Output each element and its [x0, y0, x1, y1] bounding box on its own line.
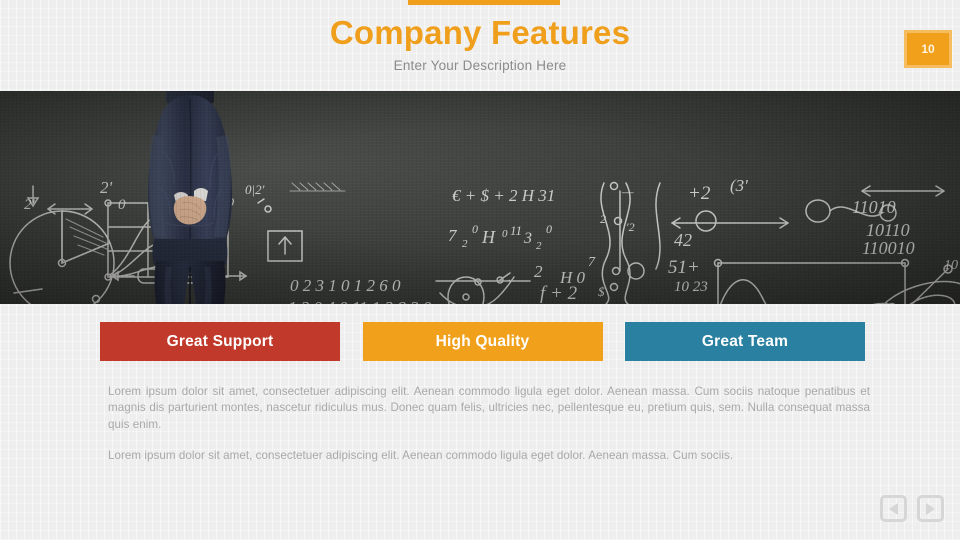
svg-text:0: 0: [502, 228, 508, 240]
feature-button-label: Great Team: [702, 333, 788, 351]
feature-buttons-row: Great Support High Quality Great Team: [100, 322, 865, 361]
chevron-right-icon: [926, 503, 935, 515]
svg-text:+2: +2: [688, 183, 711, 204]
slide-canvas: Company Features Enter Your Description …: [0, 0, 960, 540]
svg-text:—: —: [621, 184, 634, 199]
blackboard-photo: 2' 2' 0 a+c $- 72 72 31 4 0 0|2' 0 2 3 1…: [0, 91, 960, 304]
svg-text:2': 2': [24, 197, 36, 213]
svg-text:0: 0: [472, 222, 478, 236]
body-paragraph-2: Lorem ipsum dolor sit amet, consectetuer…: [108, 448, 870, 464]
svg-text:0: 0: [546, 222, 552, 236]
slide-number-value: 10: [921, 42, 934, 56]
svg-text:H: H: [481, 227, 496, 247]
top-accent-bar: [408, 0, 560, 5]
svg-text:0 2 3 1 0 1 2 6 0: 0 2 3 1 0 1 2 6 0: [290, 276, 401, 295]
svg-text:42: 42: [674, 230, 692, 250]
svg-text:2': 2': [100, 178, 113, 197]
svg-text:10 23: 10 23: [674, 279, 708, 295]
svg-text:1 2 0 4 0 11 1 2 8 2 0: 1 2 0 4 0 11 1 2 8 2 0: [288, 298, 432, 304]
body-text-block: Lorem ipsum dolor sit amet, consectetuer…: [108, 384, 870, 465]
svg-text:'2: '2: [626, 220, 635, 234]
svg-text:2: 2: [534, 262, 543, 281]
svg-text:(3': (3': [730, 176, 748, 195]
svg-text:11: 11: [510, 223, 522, 238]
svg-text:7: 7: [588, 255, 596, 270]
svg-text:51+: 51+: [668, 257, 700, 278]
svg-text:3: 3: [523, 230, 532, 247]
svg-text:10110: 10110: [866, 220, 910, 240]
chevron-left-icon: [889, 503, 898, 515]
svg-text:€ + $ + 2 H 31: € + $ + 2 H 31: [452, 186, 555, 205]
feature-button-label: Great Support: [167, 333, 274, 351]
svg-text:10: 10: [944, 258, 958, 273]
page-title: Company Features: [0, 13, 960, 53]
svg-text:2: 2: [600, 212, 606, 226]
feature-button-label: High Quality: [436, 333, 530, 351]
body-paragraph-1: Lorem ipsum dolor sit amet, consectetuer…: [108, 384, 870, 433]
svg-text:H 0: H 0: [559, 268, 586, 287]
svg-text:$: $: [598, 284, 605, 299]
svg-text:11010: 11010: [852, 197, 896, 217]
svg-text:7: 7: [448, 226, 458, 245]
svg-text:2: 2: [462, 238, 468, 250]
businessman-figure: [122, 91, 258, 304]
page-subtitle: Enter Your Description Here: [0, 56, 960, 76]
feature-button-great-support[interactable]: Great Support: [100, 322, 340, 361]
feature-button-great-team[interactable]: Great Team: [625, 322, 865, 361]
title-block: Company Features Enter Your Description …: [0, 13, 960, 76]
next-slide-button[interactable]: [917, 495, 944, 522]
previous-slide-button[interactable]: [880, 495, 907, 522]
slide-navigation: [880, 495, 944, 522]
slide-number-badge: 10: [904, 30, 952, 68]
svg-text:.: .: [508, 270, 511, 284]
feature-button-high-quality[interactable]: High Quality: [363, 322, 603, 361]
svg-text:110010: 110010: [862, 238, 915, 258]
svg-text:2: 2: [536, 240, 542, 252]
